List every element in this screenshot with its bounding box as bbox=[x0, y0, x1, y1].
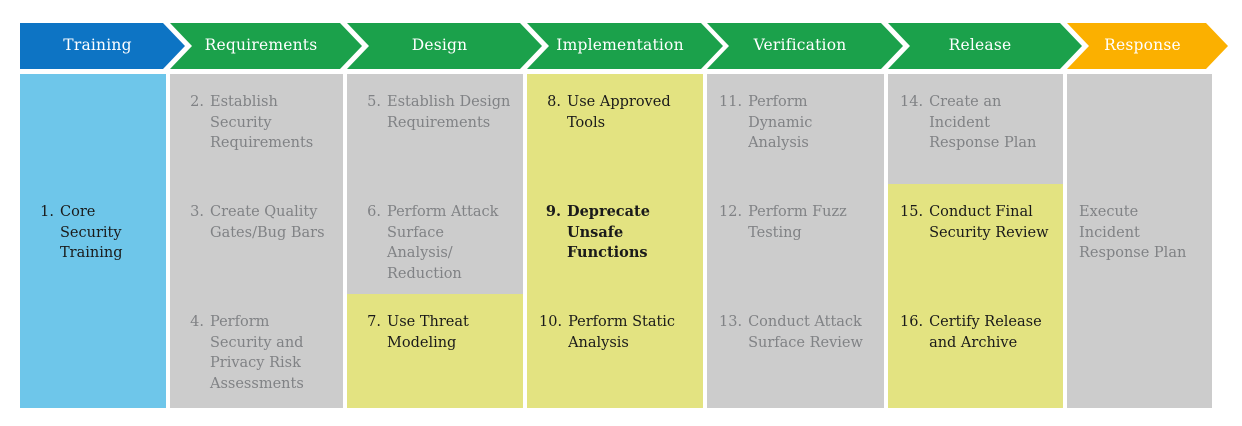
practice-item[interactable]: 14.Create an Incident Response Plan bbox=[888, 92, 1063, 154]
practice-number: 6. bbox=[359, 202, 387, 284]
practice-label: Execute Incident Response Plan bbox=[1079, 202, 1200, 264]
phase-design-header[interactable]: Design bbox=[347, 23, 542, 69]
practice-label: Conduct Final Security Review bbox=[929, 202, 1051, 243]
phase-training-label: Training bbox=[63, 38, 141, 54]
practice-number: 4. bbox=[182, 312, 210, 394]
practice-label: Certify Release and Archive bbox=[929, 312, 1051, 353]
practice-label: Create Quality Gates/Bug Bars bbox=[210, 202, 331, 243]
phase-release-column: 14.Create an Incident Response Plan15.Co… bbox=[888, 74, 1063, 408]
practice-item[interactable]: 5.Establish Design Requirements bbox=[347, 92, 523, 133]
phase-release-label: Release bbox=[949, 38, 1022, 54]
phase-requirements-header[interactable]: Requirements bbox=[170, 23, 362, 69]
practice-number: 14. bbox=[900, 92, 929, 154]
practice-label: Establish Security Requirements bbox=[210, 92, 331, 154]
practice-item[interactable]: 9.Deprecate Unsafe Functions bbox=[527, 202, 703, 264]
practice-label: Perform Dynamic Analysis bbox=[748, 92, 872, 154]
phase-requirements-column: 2.Establish Security Requirements3.Creat… bbox=[170, 74, 343, 408]
practice-item[interactable]: Execute Incident Response Plan bbox=[1067, 202, 1212, 264]
practice-number: 2. bbox=[182, 92, 210, 154]
practice-item[interactable]: 1.Core Security Training bbox=[20, 202, 166, 264]
practice-item[interactable]: 15.Conduct Final Security Review bbox=[888, 202, 1063, 243]
phase-body-grid: 1.Core Security Training2.Establish Secu… bbox=[0, 74, 1242, 408]
practice-label: Conduct Attack Surface Review bbox=[748, 312, 872, 353]
practice-item[interactable]: 7.Use Threat Modeling bbox=[347, 312, 523, 353]
practice-label: Perform Fuzz Testing bbox=[748, 202, 872, 243]
phase-training-header[interactable]: Training bbox=[20, 23, 185, 69]
practice-item[interactable]: 8.Use Approved Tools bbox=[527, 92, 703, 133]
practice-number: 8. bbox=[539, 92, 567, 133]
practice-number: 15. bbox=[900, 202, 929, 243]
practice-label: Perform Attack Surface Analysis/ Reducti… bbox=[387, 202, 511, 284]
practice-number: 12. bbox=[719, 202, 748, 243]
phase-training-column: 1.Core Security Training bbox=[20, 74, 166, 408]
practice-item[interactable]: 13.Conduct Attack Surface Review bbox=[707, 312, 884, 353]
phase-verification-column: 11.Perform Dynamic Analysis12.Perform Fu… bbox=[707, 74, 884, 408]
phase-response-label: Response bbox=[1104, 38, 1191, 54]
sdl-diagram: TrainingRequirementsDesignImplementation… bbox=[0, 0, 1242, 426]
practice-item[interactable]: 3.Create Quality Gates/Bug Bars bbox=[170, 202, 343, 243]
practice-label: Establish Design Requirements bbox=[387, 92, 511, 133]
practice-label: Use Approved Tools bbox=[567, 92, 691, 133]
phase-verification-header[interactable]: Verification bbox=[707, 23, 903, 69]
practice-label: Perform Security and Privacy Risk Assess… bbox=[210, 312, 331, 394]
practice-number: 13. bbox=[719, 312, 748, 353]
phase-design-label: Design bbox=[412, 38, 478, 54]
practice-number: 7. bbox=[359, 312, 387, 353]
practice-number: 11. bbox=[719, 92, 748, 154]
practice-number: 5. bbox=[359, 92, 387, 133]
phase-response-column: Execute Incident Response Plan bbox=[1067, 74, 1212, 408]
phase-header-band: TrainingRequirementsDesignImplementation… bbox=[0, 23, 1242, 69]
practice-item[interactable]: 11.Perform Dynamic Analysis bbox=[707, 92, 884, 154]
practice-number: 1. bbox=[32, 202, 60, 264]
practice-label: Core Security Training bbox=[60, 202, 154, 264]
phase-verification-label: Verification bbox=[754, 38, 857, 54]
phase-design-column: 5.Establish Design Requirements6.Perform… bbox=[347, 74, 523, 408]
practice-item[interactable]: 16.Certify Release and Archive bbox=[888, 312, 1063, 353]
practice-label: Use Threat Modeling bbox=[387, 312, 511, 353]
practice-number: 10. bbox=[539, 312, 568, 353]
practice-item[interactable]: 10.Perform Static Analysis bbox=[527, 312, 703, 353]
phase-implementation-header[interactable]: Implementation bbox=[527, 23, 723, 69]
phase-requirements-label: Requirements bbox=[205, 38, 328, 54]
practice-label: Perform Static Analysis bbox=[568, 312, 691, 353]
phase-response-header[interactable]: Response bbox=[1067, 23, 1228, 69]
practice-label: Deprecate Unsafe Functions bbox=[567, 202, 691, 264]
phase-release-header[interactable]: Release bbox=[888, 23, 1082, 69]
practice-number: 16. bbox=[900, 312, 929, 353]
practice-number: 3. bbox=[182, 202, 210, 243]
practice-item[interactable]: 4.Perform Security and Privacy Risk Asse… bbox=[170, 312, 343, 394]
phase-implementation-label: Implementation bbox=[556, 38, 694, 54]
practice-item[interactable]: 6.Perform Attack Surface Analysis/ Reduc… bbox=[347, 202, 523, 284]
phase-implementation-column: 8.Use Approved Tools9.Deprecate Unsafe F… bbox=[527, 74, 703, 408]
practice-item[interactable]: 12.Perform Fuzz Testing bbox=[707, 202, 884, 243]
practice-label: Create an Incident Response Plan bbox=[929, 92, 1051, 154]
practice-item[interactable]: 2.Establish Security Requirements bbox=[170, 92, 343, 154]
practice-number: 9. bbox=[539, 202, 567, 264]
